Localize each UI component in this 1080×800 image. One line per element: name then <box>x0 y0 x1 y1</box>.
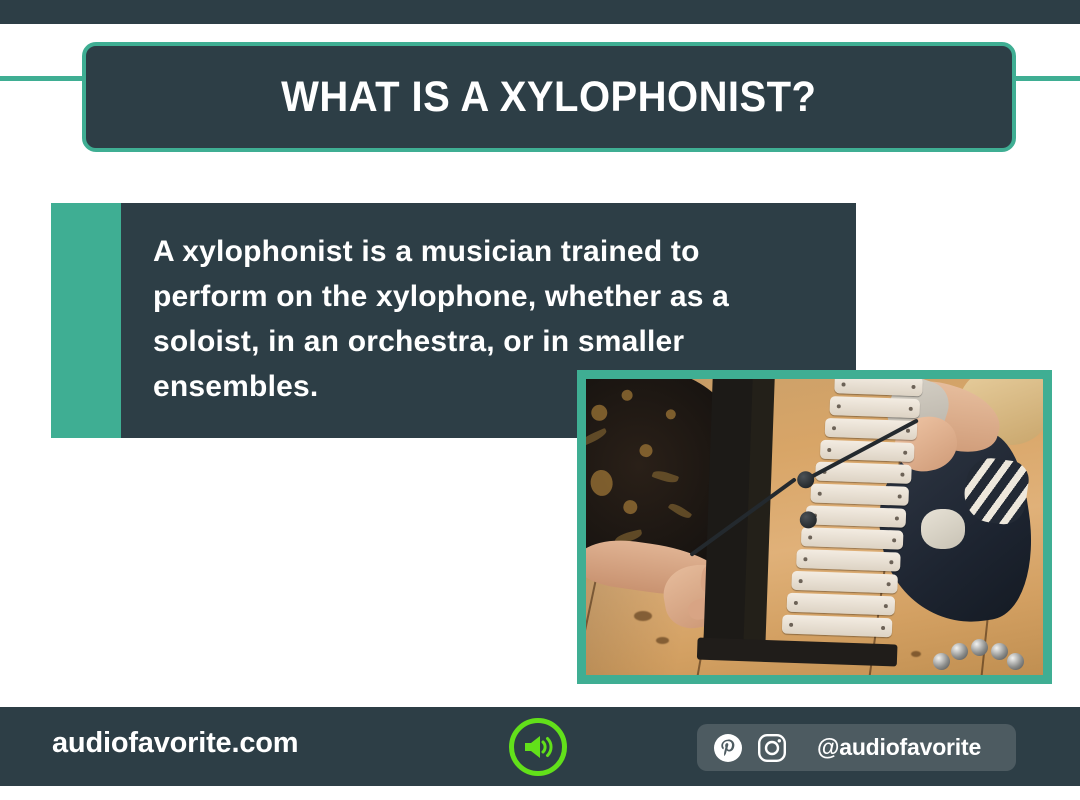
child-sock <box>921 509 965 549</box>
wood-knot <box>634 611 652 621</box>
instrument-bar <box>820 440 915 462</box>
instrument-bar <box>791 571 898 594</box>
wood-knot <box>911 651 921 657</box>
page-title: WHAT IS A XYLOPHONIST? <box>281 73 816 122</box>
social-handle: @audiofavorite <box>817 734 981 761</box>
site-name: audiofavorite.com <box>52 727 298 760</box>
pinterest-icon[interactable] <box>713 733 743 763</box>
instrument-bar <box>834 379 923 396</box>
glockenspiel <box>709 379 887 660</box>
top-strip <box>0 0 1080 24</box>
instrument-bar <box>782 615 893 638</box>
photo-xylophone-players <box>586 379 1043 675</box>
instrument-bar <box>810 483 909 505</box>
body-accent-bar <box>51 203 121 438</box>
mallet-head <box>800 511 818 529</box>
instrument-bar <box>829 396 920 418</box>
slide-canvas: WHAT IS A XYLOPHONIST? A xylophonist is … <box>0 0 1080 800</box>
bell-cluster <box>933 639 1025 673</box>
speaker-icon[interactable] <box>509 718 567 776</box>
title-card: WHAT IS A XYLOPHONIST? <box>82 42 1016 152</box>
wood-knot <box>656 637 669 644</box>
instrument-bar <box>806 505 907 527</box>
instrument-bar <box>787 593 896 616</box>
instrument-bar <box>796 549 901 572</box>
photo-frame <box>577 370 1052 684</box>
instrument-bar <box>801 527 904 550</box>
instagram-icon[interactable] <box>757 733 787 763</box>
social-pill[interactable]: @audiofavorite <box>697 724 1016 771</box>
